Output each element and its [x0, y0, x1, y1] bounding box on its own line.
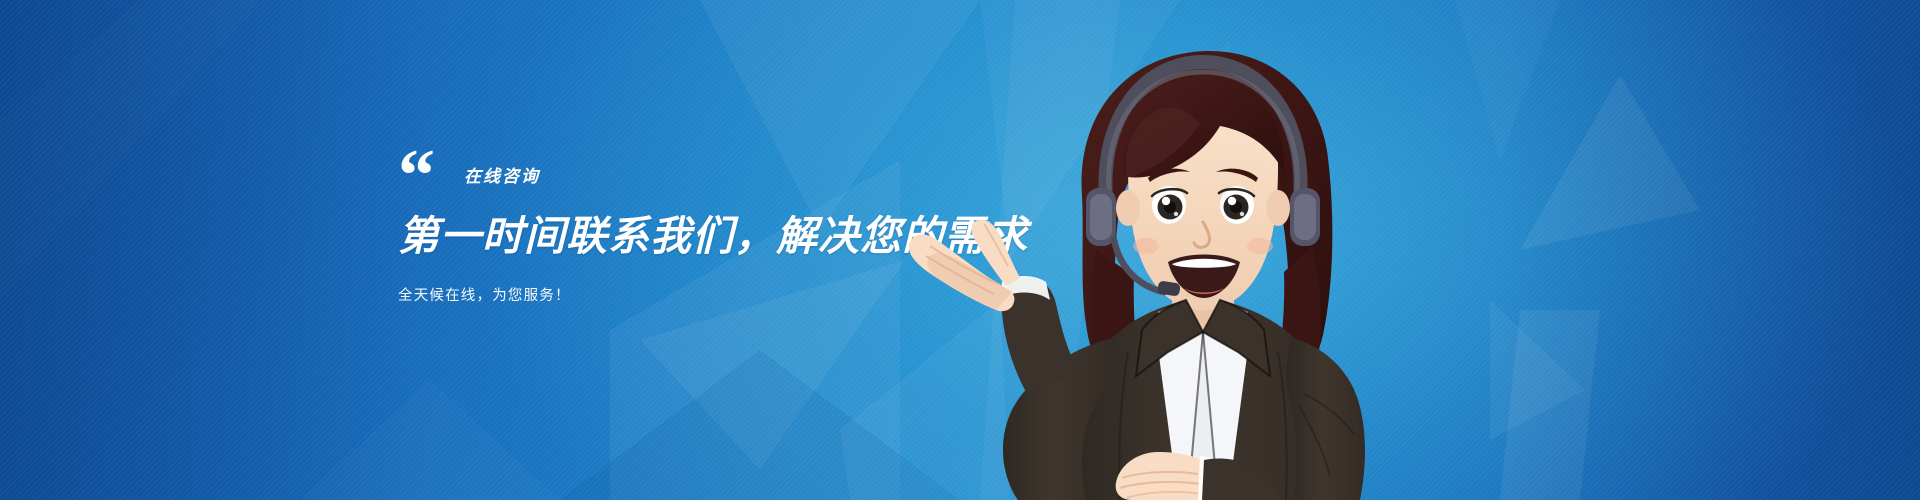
online-consultation-banner: “ 在线咨询 第一时间联系我们，解决您的需求 全天候在线，为您服务！	[0, 0, 1920, 500]
banner-subline: 全天候在线，为您服务！	[398, 284, 1098, 305]
resting-hand	[1116, 452, 1220, 500]
banner-copy: “ 在线咨询 第一时间联系我们，解决您的需求 全天候在线，为您服务！	[398, 146, 1098, 305]
headset-icon	[1086, 62, 1320, 297]
banner-eyebrow: 在线咨询	[464, 162, 540, 187]
eyes	[1152, 186, 1254, 224]
eyebrow-row: “ 在线咨询	[398, 146, 1098, 190]
banner-headline: 第一时间联系我们，解决您的需求	[398, 202, 1098, 262]
